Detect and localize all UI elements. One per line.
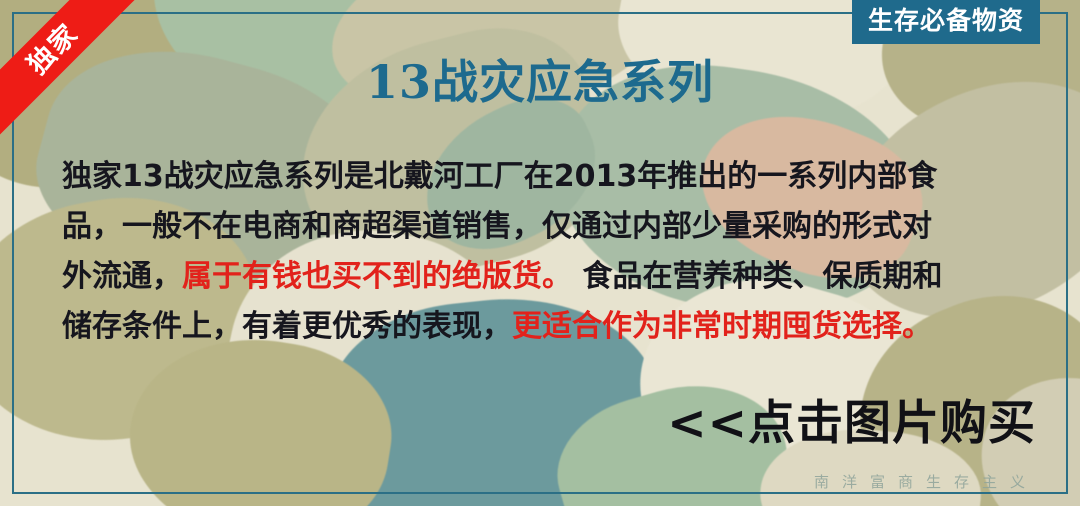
highlighted-text: 属于有钱也买不到的绝版货。 — [182, 259, 572, 294]
survival-supplies-badge: 生存必备物资 — [852, 0, 1040, 44]
description-paragraph: 独家13战灾应急系列是北戴河工厂在2013年推出的一系列内部食品，一般不在电商和… — [62, 152, 1034, 352]
body-text: 品，一般不在电商和商超渠道销售，仅通过内部少量采购的形式对 — [62, 209, 932, 244]
click-image-to-buy-cta[interactable]: <<点击图片购买 — [667, 398, 1036, 450]
brand-watermark: 南洋富商生存主义 — [814, 471, 1038, 492]
body-text: 食品在营养种类、保质期和 — [572, 259, 942, 294]
description-line: 外流通，属于有钱也买不到的绝版货。 食品在营养种类、保质期和 — [62, 252, 1034, 302]
description-line: 储存条件上，有着更优秀的表现，更适合作为非常时期囤货选择。 — [62, 302, 1034, 352]
body-text: 外流通， — [62, 259, 182, 294]
badge-label: 生存必备物资 — [868, 6, 1024, 35]
promo-poster: 独家 生存必备物资 13战灾应急系列 独家13战灾应急系列是北戴河工厂在2013… — [0, 0, 1080, 506]
page-title: 13战灾应急系列 — [0, 56, 1080, 109]
description-line: 独家13战灾应急系列是北戴河工厂在2013年推出的一系列内部食 — [62, 152, 1034, 202]
body-text: 储存条件上，有着更优秀的表现， — [62, 309, 512, 344]
description-line: 品，一般不在电商和商超渠道销售，仅通过内部少量采购的形式对 — [62, 202, 1034, 252]
body-text: 独家13战灾应急系列是北戴河工厂在2013年推出的一系列内部食 — [62, 159, 937, 194]
highlighted-text: 更适合作为非常时期囤货选择。 — [512, 309, 932, 344]
